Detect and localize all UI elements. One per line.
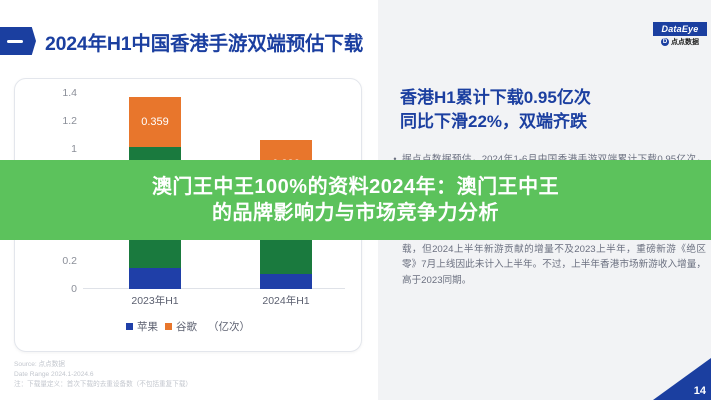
y-tick: 1.2	[62, 115, 77, 127]
chart-footnote: Source: 点点数据 Date Range 2024.1-2024.6 注：…	[14, 360, 192, 391]
dash-icon	[7, 40, 23, 43]
legend-label: 苹果	[137, 319, 158, 334]
page-number: 14	[694, 385, 706, 397]
headline: 香港H1累计下载0.95亿次 同比下滑22%，双端齐跌	[400, 86, 700, 134]
headline-line-2: 同比下滑22%，双端齐跌	[400, 110, 700, 134]
chart-legend: 苹果 谷歌 （亿次）	[15, 319, 361, 334]
y-tick: 0	[71, 283, 77, 295]
logo-sub-row: D 点点数据	[653, 37, 707, 47]
legend-unit: （亿次）	[208, 319, 250, 334]
slide-root: 2024年H1中国香港手游双端预估下载 1.4 1.2 1 0.8 0.6 0.…	[0, 0, 711, 400]
y-tick: 1	[71, 143, 77, 155]
bar-segment-apple[interactable]	[129, 268, 181, 289]
legend-swatch-icon	[126, 323, 133, 330]
footnote-date-range: Date Range 2024.1-2024.6	[14, 370, 192, 380]
dataeye-logo: DataEye D 点点数据	[653, 22, 707, 47]
legend-label: 谷歌	[176, 319, 197, 334]
overlay-line-2: 的品牌影响力与市场竞争力分析	[212, 200, 499, 226]
legend-item-apple[interactable]: 苹果	[126, 319, 158, 334]
y-tick: 0.2	[62, 255, 77, 267]
bar-segment-apple[interactable]	[260, 274, 312, 289]
hexagon-bullet-icon	[0, 27, 36, 55]
legend-swatch-icon	[165, 323, 172, 330]
logo-mark-icon: D	[661, 38, 669, 46]
x-axis-labels: 2023年H1 2024年H1	[83, 293, 345, 313]
page-title: 2024年H1中国香港手游双端预估下载	[45, 27, 363, 56]
headline-line-1: 香港H1累计下载0.95亿次	[400, 86, 700, 110]
bar-value-label: 0.359	[141, 116, 169, 128]
y-tick: 1.4	[62, 87, 77, 99]
page-number-wrap: 14	[653, 358, 711, 400]
overlay-line-1: 澳门王中王100%的资料2024年：澳门王中王	[152, 174, 559, 200]
bar-segment-google[interactable]: 0.359	[129, 97, 181, 147]
logo-sub-text: 点点数据	[671, 37, 699, 47]
watermark-overlay: 澳门王中王100%的资料2024年：澳门王中王 的品牌影响力与市场竞争力分析	[0, 160, 711, 240]
x-tick-2024h1: 2024年H1	[262, 293, 309, 308]
footnote-note: 注：下载量定义：首次下载的去重设备数（不包括重复下载）	[14, 380, 192, 390]
slide-title-row: 2024年H1中国香港手游双端预估下载	[0, 24, 363, 58]
x-tick-2023h1: 2023年H1	[131, 293, 178, 308]
footnote-source: Source: 点点数据	[14, 360, 192, 370]
logo-brand-text: DataEye	[653, 22, 707, 36]
legend-item-google[interactable]: 谷歌	[165, 319, 197, 334]
